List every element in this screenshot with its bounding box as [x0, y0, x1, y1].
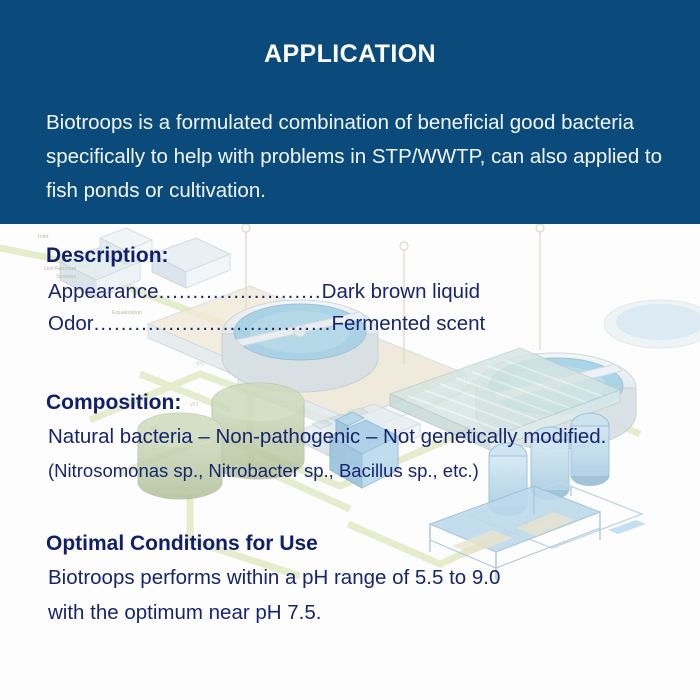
- optimal-conditions-heading: Optimal Conditions for Use: [46, 532, 318, 556]
- composition-heading: Composition:: [46, 391, 181, 415]
- optimal-conditions-line-2: with the optimum near pH 7.5.: [48, 601, 321, 625]
- application-slide: APPLICATION Biotroops is a formulated co…: [0, 0, 700, 700]
- page-title: APPLICATION: [0, 40, 700, 69]
- description-row-appearance-label: Appearance: [48, 280, 159, 303]
- description-row-appearance-leader: ........................: [159, 280, 322, 303]
- description-row-appearance: Appearance........................Dark b…: [48, 280, 480, 304]
- description-row-odor-leader: ...................................: [94, 312, 332, 335]
- application-banner: APPLICATION Biotroops is a formulated co…: [0, 0, 700, 224]
- composition-line-1: Natural bacteria – Non-pathogenic – Not …: [48, 425, 606, 449]
- optimal-conditions-line-1: Biotroops performs within a pH range of …: [48, 566, 500, 590]
- banner-description-text: Biotroops is a formulated combination of…: [46, 106, 666, 208]
- description-row-appearance-value: Dark brown liquid: [322, 280, 480, 303]
- description-row-odor: Odor...................................F…: [48, 312, 485, 336]
- composition-line-2: (Nitrosomonas sp., Nitrobacter sp., Baci…: [48, 460, 479, 482]
- description-row-odor-label: Odor: [48, 312, 94, 335]
- description-heading: Description:: [46, 244, 169, 268]
- description-row-odor-value: Fermented scent: [331, 312, 485, 335]
- slide-content: Description: Appearance.................…: [0, 224, 700, 700]
